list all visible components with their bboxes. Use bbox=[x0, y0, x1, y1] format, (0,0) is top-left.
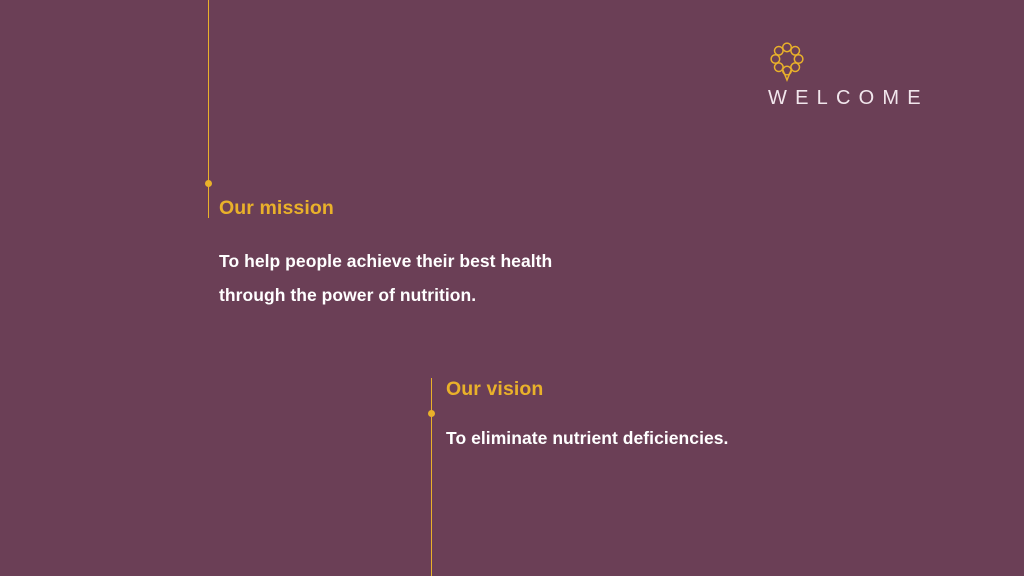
section-vision-heading: Our vision bbox=[446, 378, 916, 401]
section-mission-body-line: through the power of nutrition. bbox=[219, 279, 689, 313]
brand-wordmark: WELCOME bbox=[768, 87, 929, 110]
timeline-node-mission bbox=[205, 180, 212, 187]
flower-rosette-icon bbox=[770, 42, 804, 82]
timeline-node-vision bbox=[428, 410, 435, 417]
timeline-rule-vision bbox=[431, 378, 433, 576]
section-vision-body-line: To eliminate nutrient deficiencies. bbox=[446, 422, 916, 456]
brand-lockup: WELCOME bbox=[762, 42, 952, 122]
section-mission-body: To help people achieve their best health… bbox=[219, 245, 689, 313]
section-mission-body-line: To help people achieve their best health bbox=[219, 245, 689, 279]
section-mission-heading: Our mission bbox=[219, 197, 689, 220]
slide-canvas: WELCOME Our mission To help people achie… bbox=[0, 0, 1024, 576]
section-vision: Our vision To eliminate nutrient deficie… bbox=[446, 378, 916, 456]
section-vision-body: To eliminate nutrient deficiencies. bbox=[446, 422, 916, 456]
section-mission: Our mission To help people achieve their… bbox=[219, 197, 689, 313]
